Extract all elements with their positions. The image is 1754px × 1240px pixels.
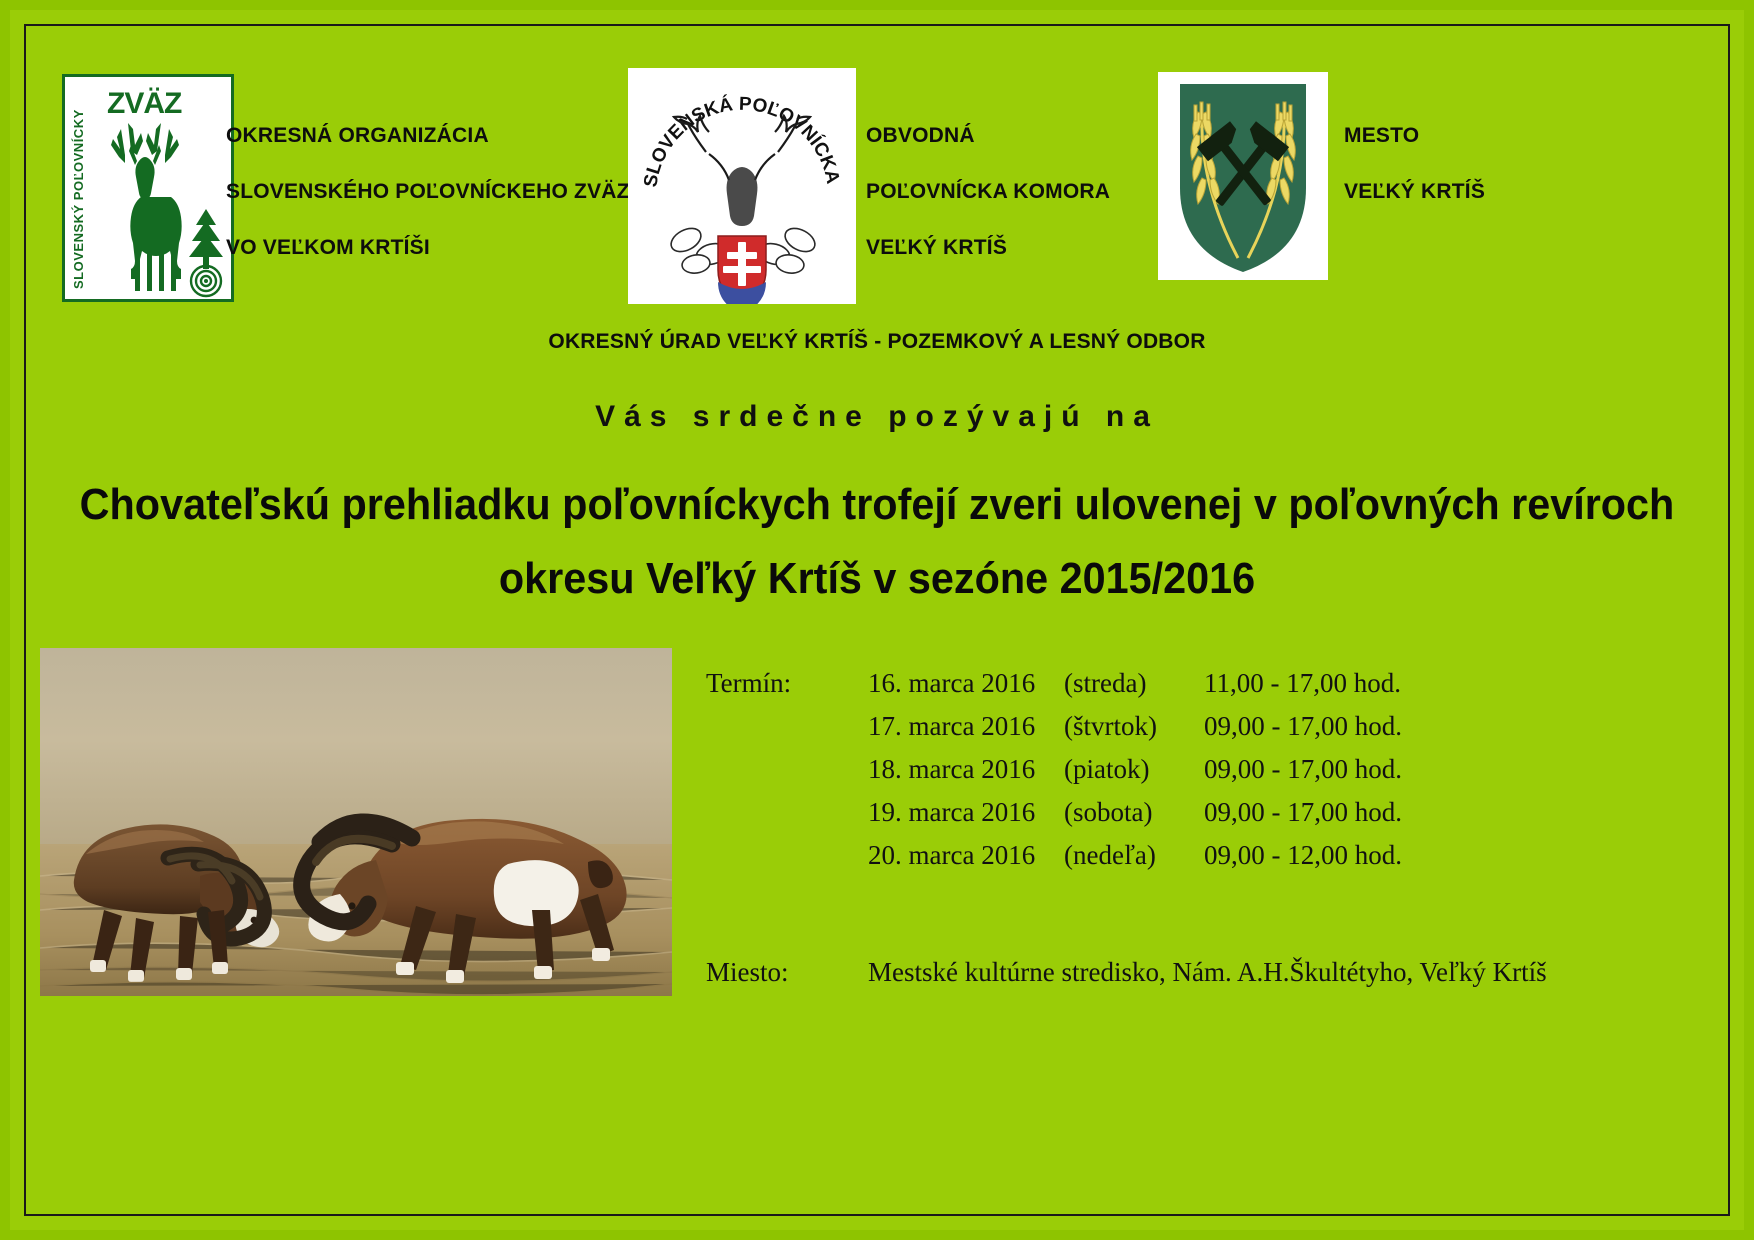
title-line-2: okresu Veľký Krtíš v sezóne 2015/2016 xyxy=(53,542,1702,616)
detail-day: (piatok) xyxy=(1064,754,1204,785)
detail-day: (streda) xyxy=(1064,668,1204,699)
detail-date: 17. marca 2016 xyxy=(868,711,1064,742)
slovensky-polovnicky-zvaz-logo: SLOVENSKÝ POĽOVNÍCKY ZVÄZ xyxy=(62,74,234,302)
detail-date: 19. marca 2016 xyxy=(868,797,1064,828)
mouflon-rams-photo xyxy=(40,648,672,996)
spk-emblem-icon: SLOVENSKÁ POĽOVNÍCKA KOMORA xyxy=(628,68,856,304)
event-poster: SLOVENSKÝ POĽOVNÍCKY ZVÄZ xyxy=(0,0,1754,1240)
detail-row: 19. marca 2016 (sobota) 09,00 - 17,00 ho… xyxy=(706,797,1686,840)
spz-arc-label: SLOVENSKÝ POĽOVNÍCKY xyxy=(71,93,95,289)
detail-time: 09,00 - 17,00 hod. xyxy=(1204,711,1402,742)
place-value: Mestské kultúrne stredisko, Nám. A.H.Šku… xyxy=(868,957,1547,988)
city-title-block: MESTO VEĽKÝ KRTÍŠ xyxy=(1344,108,1485,220)
spk-title-line-1: OBVODNÁ xyxy=(866,108,1110,164)
district-office-line: OKRESNÝ ÚRAD VEĽKÝ KRTÍŠ - POZEMKOVÝ A L… xyxy=(0,330,1754,354)
event-details: Termín: 16. marca 2016 (streda) 11,00 - … xyxy=(706,668,1686,988)
detail-date: 16. marca 2016 xyxy=(868,668,1064,699)
detail-day: (sobota) xyxy=(1064,797,1204,828)
page-title: Chovateľskú prehliadku poľovníckych trof… xyxy=(0,468,1754,616)
place-row: Miesto: Mestské kultúrne stredisko, Nám.… xyxy=(706,957,1686,988)
spz-title-block: OKRESNÁ ORGANIZÁCIA SLOVENSKÉHO POĽOVNÍC… xyxy=(226,108,645,276)
mesto-velky-krtis-crest xyxy=(1158,72,1328,280)
detail-row: 17. marca 2016 (štvrtok) 09,00 - 17,00 h… xyxy=(706,711,1686,754)
detail-day: (štvrtok) xyxy=(1064,711,1204,742)
place-label: Miesto: xyxy=(706,957,868,988)
spk-title-line-2: POĽOVNÍCKA KOMORA xyxy=(866,164,1110,220)
spz-title-line-2: SLOVENSKÉHO POĽOVNÍCKEHO ZVÄZU xyxy=(226,164,645,220)
detail-time: 11,00 - 17,00 hod. xyxy=(1204,668,1401,699)
invitation-line: Vás srdečne pozývajú na xyxy=(0,400,1754,434)
city-title-line-1: MESTO xyxy=(1344,108,1485,164)
detail-row: Termín: 16. marca 2016 (streda) 11,00 - … xyxy=(706,668,1686,711)
detail-row: 18. marca 2016 (piatok) 09,00 - 17,00 ho… xyxy=(706,754,1686,797)
detail-date: 18. marca 2016 xyxy=(868,754,1064,785)
detail-time: 09,00 - 12,00 hod. xyxy=(1204,840,1402,871)
spz-title-line-1: OKRESNÁ ORGANIZÁCIA xyxy=(226,108,645,164)
detail-row: 20. marca 2016 (nedeľa) 09,00 - 12,00 ho… xyxy=(706,840,1686,883)
spk-title-line-3: VEĽKÝ KRTÍŠ xyxy=(866,220,1110,276)
city-coat-of-arms-icon xyxy=(1158,72,1328,280)
spz-title-line-3: VO VEĽKOM KRTÍŠI xyxy=(226,220,645,276)
detail-time: 09,00 - 17,00 hod. xyxy=(1204,797,1402,828)
title-line-1: Chovateľskú prehliadku poľovníckych trof… xyxy=(53,468,1702,542)
detail-day: (nedeľa) xyxy=(1064,840,1204,871)
mouflon-photo-illustration xyxy=(40,648,672,996)
spk-title-block: OBVODNÁ POĽOVNÍCKA KOMORA VEĽKÝ KRTÍŠ xyxy=(866,108,1110,276)
detail-time: 09,00 - 17,00 hod. xyxy=(1204,754,1402,785)
city-title-line-2: VEĽKÝ KRTÍŠ xyxy=(1344,164,1485,220)
slovenska-polovnicka-komora-logo: SLOVENSKÁ POĽOVNÍCKA KOMORA xyxy=(628,68,856,304)
detail-date: 20. marca 2016 xyxy=(868,840,1064,871)
term-label: Termín: xyxy=(706,668,868,699)
